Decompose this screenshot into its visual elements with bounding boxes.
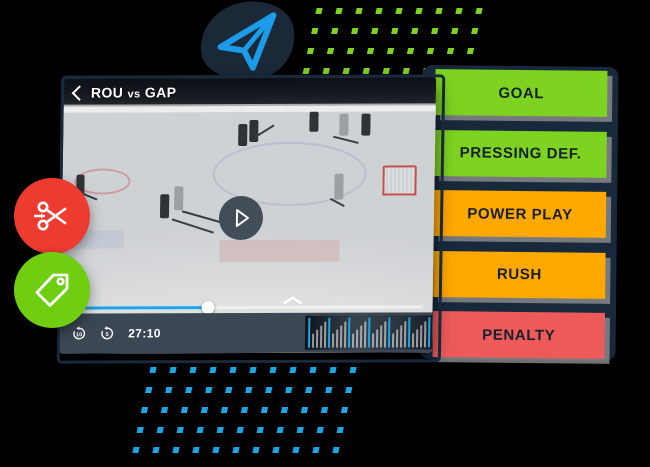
video-header: ROU vs GAP	[64, 77, 437, 106]
dot	[189, 367, 196, 373]
goal-net	[382, 165, 416, 195]
dot	[149, 367, 156, 373]
dot	[301, 407, 308, 413]
tag-button[interactable]	[14, 252, 90, 328]
dot	[181, 407, 188, 413]
timeline-tick	[356, 330, 358, 348]
dot-row	[311, 28, 492, 34]
dot	[411, 28, 418, 34]
dot	[323, 68, 330, 74]
tag-button-rush[interactable]: RUSH	[433, 251, 605, 299]
dot	[403, 68, 410, 74]
tag-button-list: GOALPRESSING DEF.POWER PLAYRUSHPENALTY	[429, 69, 618, 359]
timeline-marker	[368, 318, 370, 348]
dot	[152, 447, 159, 453]
dot	[245, 387, 252, 393]
dot-row	[137, 427, 358, 433]
tag-icon	[32, 270, 72, 310]
dot	[197, 427, 204, 433]
play-icon	[229, 206, 253, 230]
timeline-tick	[380, 326, 382, 348]
dot	[252, 447, 259, 453]
dot	[249, 367, 256, 373]
timeline-filmstrip[interactable]	[305, 315, 433, 349]
dot	[269, 367, 276, 373]
dot	[345, 387, 352, 393]
timeline-tick	[312, 334, 314, 348]
dot	[141, 407, 148, 413]
timeline-tick	[316, 330, 318, 348]
dot	[217, 427, 224, 433]
dot	[387, 48, 394, 54]
vs-label: vs	[127, 88, 140, 100]
dot	[209, 367, 216, 373]
dot	[427, 48, 434, 54]
timestamp-label: 27:10	[128, 326, 161, 340]
video-player-card[interactable]: Thillard & DebonnelMatmutE.LeclercACERBI…	[60, 77, 436, 353]
dot	[277, 427, 284, 433]
timeline-tick	[400, 325, 402, 347]
timeline-tick	[416, 329, 418, 347]
dot	[185, 387, 192, 393]
timeline-tick	[324, 322, 326, 348]
dot	[281, 407, 288, 413]
dot	[383, 68, 390, 74]
dot	[132, 447, 139, 453]
dot	[337, 427, 344, 433]
dot	[315, 8, 322, 14]
tag-button-power-play[interactable]: POWER PLAY	[434, 190, 606, 238]
timeline-marker	[428, 317, 430, 347]
dot	[265, 387, 272, 393]
dot	[407, 48, 414, 54]
hockey-stick	[172, 218, 214, 233]
dot	[475, 8, 482, 14]
dot	[371, 28, 378, 34]
rewind-10-icon[interactable]: 10	[70, 325, 88, 343]
dot	[347, 48, 354, 54]
timeline-tick	[404, 321, 406, 347]
timeline-tick	[372, 334, 374, 348]
player	[334, 174, 343, 200]
dot	[157, 427, 164, 433]
dot	[241, 407, 248, 413]
timeline-tick	[424, 321, 426, 347]
dot-row	[307, 48, 488, 54]
timeline-marker	[348, 318, 350, 348]
dot	[335, 8, 342, 14]
dot	[229, 367, 236, 373]
dot-row	[145, 387, 366, 393]
dot	[237, 427, 244, 433]
dot	[285, 387, 292, 393]
dot	[363, 68, 370, 74]
hockey-stick	[182, 210, 221, 223]
dot	[455, 8, 462, 14]
dot	[431, 28, 438, 34]
player	[361, 114, 370, 136]
dot	[201, 407, 208, 413]
crease-marking	[219, 240, 339, 262]
dot	[343, 68, 350, 74]
player	[160, 194, 169, 218]
timeline-tick	[396, 329, 398, 347]
dot	[297, 427, 304, 433]
dot	[225, 387, 232, 393]
player	[309, 112, 318, 132]
dot	[221, 407, 228, 413]
dot	[305, 387, 312, 393]
dot	[451, 28, 458, 34]
blue-dot-pattern	[129, 367, 370, 467]
tag-button-label: PENALTY	[482, 326, 555, 344]
tag-button-label: GOAL	[498, 84, 544, 101]
dot	[329, 367, 336, 373]
tag-button-pressing-def[interactable]: PRESSING DEF.	[434, 130, 606, 178]
video-control-bar: 10 5 27:10	[60, 312, 433, 353]
timeline-marker	[388, 317, 390, 347]
dot	[169, 367, 176, 373]
timeline-tick	[392, 333, 394, 347]
dot	[309, 367, 316, 373]
timeline-tick	[420, 325, 422, 347]
hockey-stick	[333, 136, 359, 144]
timeline-tick	[360, 326, 362, 348]
dot	[331, 28, 338, 34]
dot	[355, 8, 362, 14]
home-team-label: ROU	[91, 84, 124, 100]
timeline-tick	[340, 326, 342, 348]
dot	[317, 427, 324, 433]
dot	[391, 28, 398, 34]
dot	[161, 407, 168, 413]
dot	[447, 48, 454, 54]
timeline-tick	[376, 330, 378, 348]
timeline-tick	[352, 334, 354, 348]
dot	[307, 48, 314, 54]
dot	[145, 387, 152, 393]
timeline-tick	[336, 330, 338, 348]
dot	[435, 8, 442, 14]
player	[238, 124, 247, 146]
timeline-tick	[384, 321, 386, 347]
screenshot-stage: GOALPRESSING DEF.POWER PLAYRUSHPENALTY T…	[0, 0, 650, 433]
scrubber-progress	[71, 306, 208, 309]
dot	[321, 407, 328, 413]
dot-row	[132, 447, 353, 453]
dot	[312, 447, 319, 453]
dot	[467, 48, 474, 54]
dot	[325, 387, 332, 393]
timeline-marker	[328, 318, 330, 348]
dot	[367, 48, 374, 54]
timeline-tick	[332, 334, 334, 348]
timeline-tick	[412, 333, 414, 347]
dot	[327, 48, 334, 54]
player	[174, 186, 183, 210]
svg-text:5: 5	[105, 332, 108, 338]
timeline-marker	[408, 317, 410, 347]
dot	[349, 367, 356, 373]
tag-button-label: PRESSING DEF.	[460, 144, 582, 162]
dot	[212, 447, 219, 453]
player	[339, 114, 348, 136]
timeline-tick	[320, 326, 322, 348]
svg-text:10: 10	[76, 332, 82, 338]
cut-button[interactable]	[14, 178, 90, 254]
dot	[205, 387, 212, 393]
dot	[311, 28, 318, 34]
dot	[172, 447, 179, 453]
tag-button-label: RUSH	[497, 266, 542, 283]
away-team-label: GAP	[145, 84, 177, 100]
dot	[137, 427, 144, 433]
dot	[261, 407, 268, 413]
dot	[292, 447, 299, 453]
dot-row	[315, 8, 496, 14]
tag-button-label: POWER PLAY	[467, 205, 573, 223]
timeline-tick	[344, 322, 346, 348]
back-chevron-icon[interactable]	[72, 85, 88, 101]
timeline-marker	[308, 318, 310, 348]
rewind-5-icon[interactable]: 5	[98, 324, 116, 342]
dot	[232, 447, 239, 453]
dot	[165, 387, 172, 393]
tag-button-goal[interactable]: GOAL	[435, 69, 607, 117]
match-title: ROU vs GAP	[91, 84, 177, 100]
dot	[303, 68, 310, 74]
timeline-tick	[364, 322, 366, 348]
dot	[177, 427, 184, 433]
dot	[395, 8, 402, 14]
player	[249, 120, 258, 142]
dot	[257, 427, 264, 433]
dot	[471, 28, 478, 34]
dot	[415, 8, 422, 14]
dot	[351, 28, 358, 34]
paper-plane-icon	[210, 8, 288, 74]
chevron-up-icon[interactable]	[283, 296, 303, 304]
dot-row	[149, 367, 370, 373]
dot-row	[141, 407, 362, 413]
tag-button-penalty[interactable]: PENALTY	[432, 311, 604, 359]
scissors-icon	[32, 196, 72, 236]
dot	[289, 367, 296, 373]
dot	[272, 447, 279, 453]
dot	[375, 8, 382, 14]
dot	[341, 407, 348, 413]
dot	[332, 447, 339, 453]
dot	[192, 447, 199, 453]
